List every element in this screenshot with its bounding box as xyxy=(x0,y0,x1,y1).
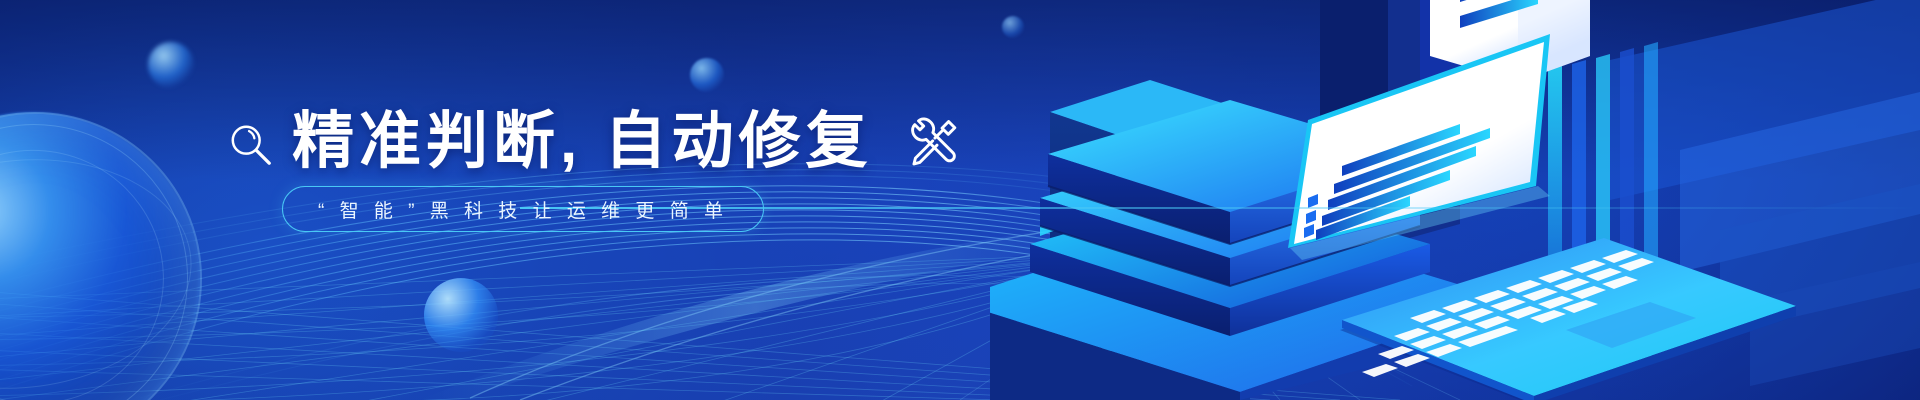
hero-banner: 精准判断, 自动修复 “ 智 能 ” 黑 科 技 让 运 维 更 简 单 xyxy=(0,0,1920,400)
isometric-illustration xyxy=(990,0,1920,400)
subtitle-pill: “ 智 能 ” 黑 科 技 让 运 维 更 简 单 xyxy=(282,186,764,232)
bokeh-orb xyxy=(148,42,194,88)
magnifier-icon xyxy=(228,122,274,168)
wrench-screwdriver-icon xyxy=(904,112,964,172)
headline-block: 精准判断, 自动修复 xyxy=(228,104,1028,180)
headline-text: 精准判断, 自动修复 xyxy=(292,109,872,175)
bokeh-orb xyxy=(424,278,498,352)
bokeh-orb xyxy=(690,58,724,92)
subtitle-text: “ 智 能 ” 黑 科 技 让 运 维 更 简 单 xyxy=(318,196,728,223)
